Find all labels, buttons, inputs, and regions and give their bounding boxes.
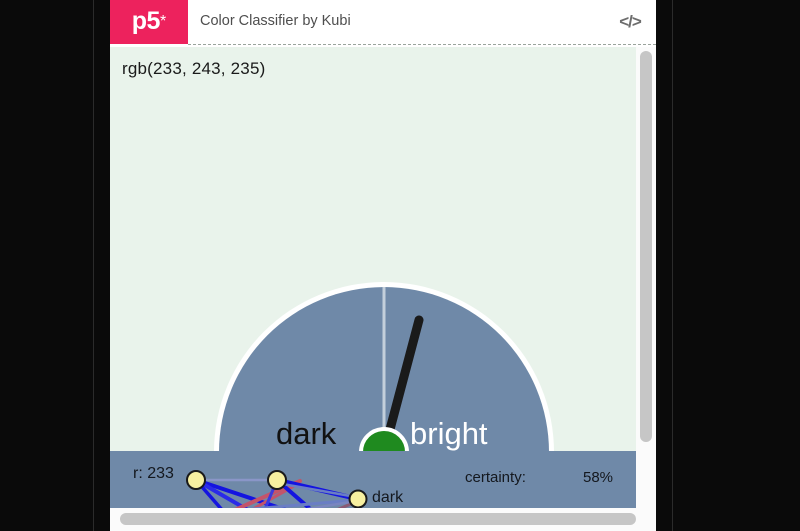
sketch-author: Kubi <box>322 13 351 29</box>
vertical-scrollbar[interactable] <box>636 47 656 508</box>
certainty-gauge <box>110 47 656 508</box>
horizontal-scrollbar-thumb[interactable] <box>120 513 636 525</box>
rgb-readout: rgb(233, 243, 235) <box>122 59 265 79</box>
sketch-title-text: Color Classifier <box>200 13 298 29</box>
sketch-frame: p5* Color ClassifierbyKubi </> rgb(233, … <box>110 0 656 531</box>
letterbox-seam-right <box>672 0 673 531</box>
network-node <box>187 471 205 489</box>
gauge-label-dark: dark <box>276 416 336 452</box>
gauge-rim <box>214 282 554 452</box>
sketch-header: p5* Color ClassifierbyKubi </> <box>110 0 656 44</box>
horizontal-scrollbar[interactable] <box>110 508 656 531</box>
network-output-label: dark <box>372 489 403 507</box>
network-node <box>268 471 286 489</box>
red-channel-value: r: 233 <box>133 465 174 483</box>
p5-logo-text: p5 <box>132 9 160 34</box>
sketch-title: Color ClassifierbyKubi <box>200 13 351 29</box>
code-icon[interactable]: </> <box>616 10 644 34</box>
vertical-scrollbar-thumb[interactable] <box>640 51 652 442</box>
gauge-face <box>219 287 549 452</box>
p5-logo-star: * <box>160 14 166 30</box>
p5-logo-badge[interactable]: p5* <box>110 0 188 44</box>
letterbox-seam-left <box>93 0 94 531</box>
gauge-label-bright: bright <box>410 416 488 452</box>
p5-canvas[interactable]: rgb(233, 243, 235) dark bright <box>110 47 656 508</box>
page-background: p5* Color ClassifierbyKubi </> rgb(233, … <box>0 0 800 531</box>
certainty-label: certainty: <box>465 469 526 486</box>
network-node <box>350 491 367 508</box>
certainty-value: 58% <box>583 469 613 486</box>
sketch-byline: by <box>302 13 317 29</box>
info-band: r: 233 dark certainty: 58% <box>110 451 656 508</box>
header-divider <box>188 44 656 45</box>
